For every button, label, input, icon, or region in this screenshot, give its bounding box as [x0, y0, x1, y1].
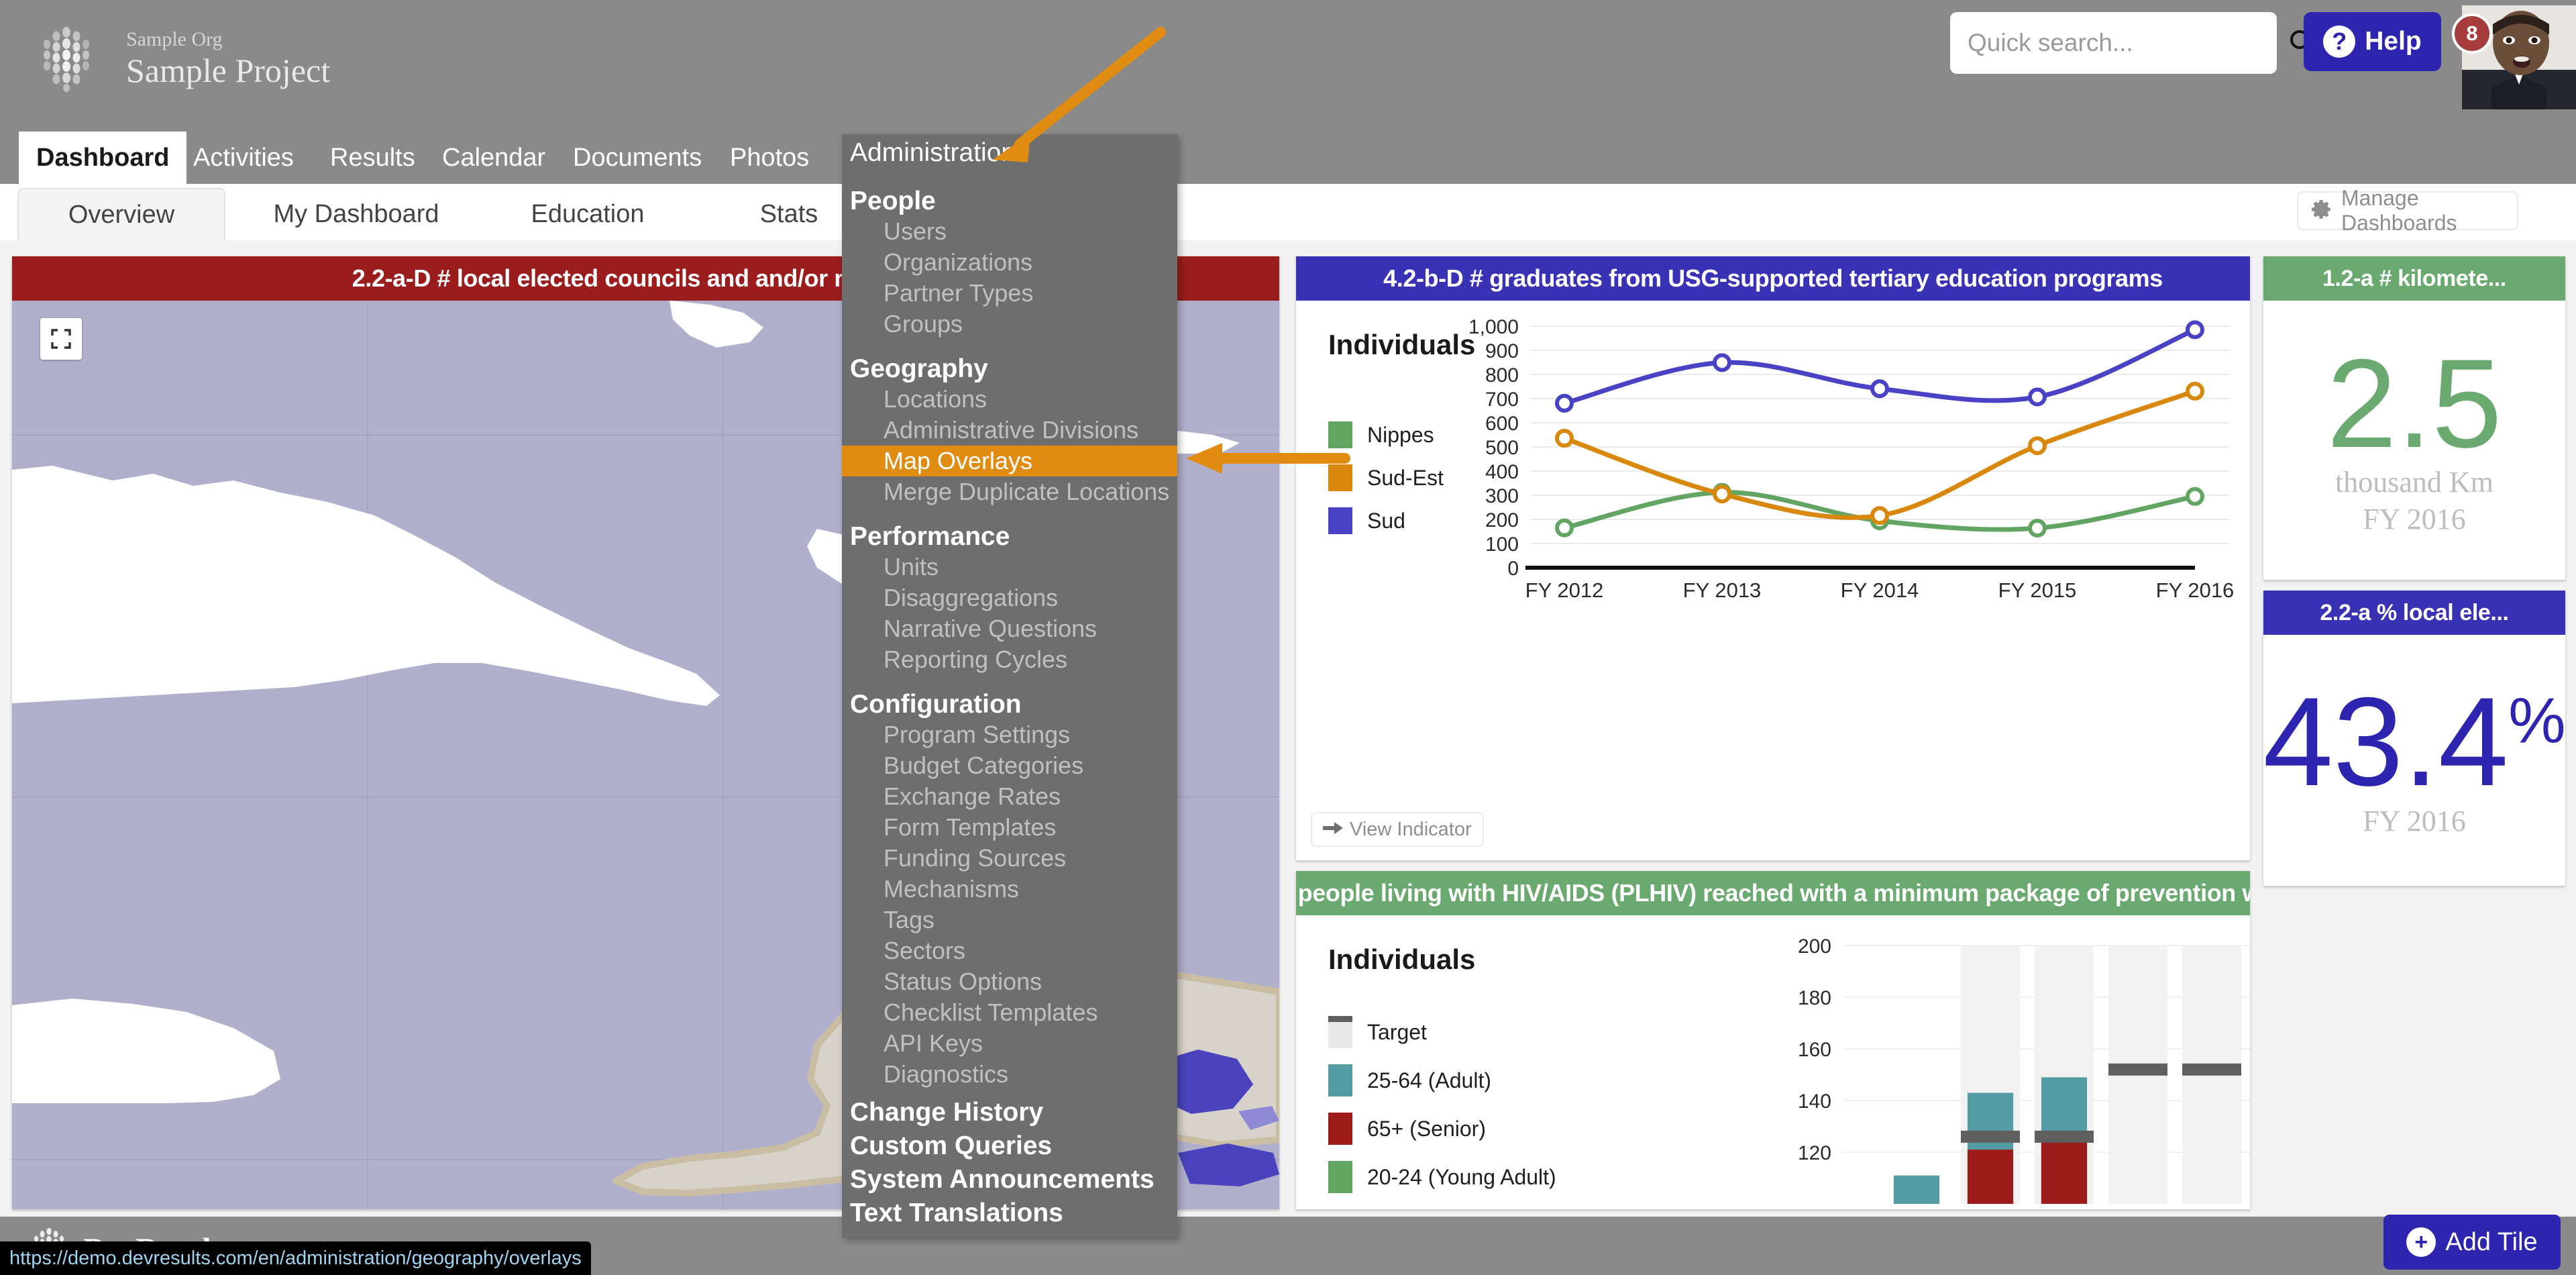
status-bar-url: https://demo.devresults.com/en/administr…	[0, 1241, 591, 1275]
dropdown-item-text-translations[interactable]: Text Translations	[842, 1190, 1177, 1224]
kpi-km-body: 2.5 thousand Km FY 2016	[2263, 301, 2565, 580]
dropdown-item-checklist-templates[interactable]: Checklist Templates	[842, 997, 1177, 1028]
dropdown-item-map-overlays[interactable]: Map Overlays	[842, 446, 1177, 476]
dropdown-item-locations[interactable]: Locations	[842, 384, 1177, 415]
dropdown-item-budget-categories[interactable]: Budget Categories	[842, 750, 1177, 781]
dropdown-item-organizations[interactable]: Organizations	[842, 247, 1177, 278]
project-name: Sample Project	[126, 52, 330, 91]
tile-kpi-kilometers[interactable]: 1.2-a # kilomete... 2.5 thousand Km FY 2…	[2263, 256, 2565, 580]
main-navigation: Dashboard Activities Results Calendar Do…	[0, 132, 2576, 184]
kpi-pct-period: FY 2016	[2363, 803, 2466, 839]
nav-tab-results[interactable]: Results	[313, 132, 433, 184]
dropdown-item-narrative-questions[interactable]: Narrative Questions	[842, 613, 1177, 644]
dropdown-group-heading: Configuration	[842, 675, 1177, 719]
svg-text:1,000: 1,000	[1468, 316, 1519, 338]
svg-text:160: 160	[1798, 1039, 1831, 1061]
kpi-pct-value: 43.4	[2263, 671, 2508, 812]
svg-text:400: 400	[1485, 461, 1519, 483]
subtab-overview[interactable]: Overview	[17, 188, 225, 240]
dropdown-item-units[interactable]: Units	[842, 552, 1177, 582]
nav-tab-photos[interactable]: Photos	[712, 132, 826, 184]
dropdown-item-groups[interactable]: Groups	[842, 309, 1177, 340]
dropdown-item-funding-sources[interactable]: Funding Sources	[842, 843, 1177, 874]
dashboard-subnav: Overview My Dashboard Education Stats	[0, 184, 2576, 240]
line-chart-plot: 01002003004005006007008009001,000FY 2012…	[1296, 301, 2250, 860]
svg-text:180: 180	[1798, 987, 1831, 1009]
manage-dashboards-label: Manage Dashboards	[2341, 186, 2517, 236]
kpi-pct-suffix: %	[2508, 685, 2565, 757]
kpi-km-title: 1.2-a # kilomete...	[2263, 256, 2565, 301]
nav-tab-activities[interactable]: Activities	[176, 132, 311, 184]
dropdown-item-tags[interactable]: Tags	[842, 905, 1177, 935]
dropdown-item-status-options[interactable]: Status Options	[842, 966, 1177, 997]
nav-tab-dashboard[interactable]: Dashboard	[19, 132, 186, 184]
svg-text:600: 600	[1485, 413, 1519, 435]
svg-text:200: 200	[1798, 935, 1831, 958]
notification-badge[interactable]: 8	[2452, 13, 2492, 54]
bar-tile-title: 3.1-a # people living with HIV/AIDS (PLH…	[1296, 871, 2250, 915]
kpi-km-value: 2.5	[2326, 343, 2502, 464]
view-indicator-button[interactable]: View Indicator	[1311, 812, 1484, 847]
dropdown-item-exchange-rates[interactable]: Exchange Rates	[842, 781, 1177, 812]
add-tile-button[interactable]: + Add Tile	[2383, 1215, 2561, 1270]
nav-tab-documents[interactable]: Documents	[555, 132, 719, 184]
dropdown-item-custom-queries[interactable]: Custom Queries	[842, 1123, 1177, 1157]
arrow-right-icon	[1323, 821, 1343, 839]
tile-kpi-local-elected[interactable]: 2.2-a % local ele... 43.4% FY 2016	[2263, 591, 2565, 886]
dropdown-item-system-announcements[interactable]: System Announcements	[842, 1157, 1177, 1190]
dropdown-title: Administration	[842, 134, 1177, 172]
kpi-km-period: FY 2016	[2363, 501, 2466, 538]
line-tile-title: 4.2-b-D # graduates from USG-supported t…	[1296, 256, 2250, 301]
add-tile-label: Add Tile	[2445, 1228, 2537, 1257]
gear-icon	[2310, 198, 2333, 224]
dropdown-item-change-history[interactable]: Change History	[842, 1090, 1177, 1123]
dropdown-item-form-templates[interactable]: Form Templates	[842, 812, 1177, 843]
svg-text:FY 2013: FY 2013	[1683, 578, 1762, 602]
svg-text:200: 200	[1485, 509, 1519, 531]
svg-text:0: 0	[1507, 558, 1519, 580]
status-bar-url-text: https://demo.devresults.com/en/administr…	[9, 1247, 582, 1270]
tile-bar-chart-plhiv[interactable]: 3.1-a # people living with HIV/AIDS (PLH…	[1296, 871, 2250, 1209]
dropdown-item-sectors[interactable]: Sectors	[842, 935, 1177, 966]
quick-search-box[interactable]	[1950, 12, 2277, 74]
dropdown-item-administrative-divisions[interactable]: Administrative Divisions	[842, 415, 1177, 446]
top-header-bar: Sample Org Sample Project ? Help 8	[0, 0, 2576, 132]
dropdown-item-api-keys[interactable]: API Keys	[842, 1028, 1177, 1059]
fullscreen-icon[interactable]	[40, 318, 82, 360]
kpi-pct-title: 2.2-a % local ele...	[2263, 591, 2565, 635]
subtab-stats[interactable]: Stats	[715, 188, 863, 240]
subtab-education[interactable]: Education	[487, 188, 688, 240]
manage-dashboards-button[interactable]: Manage Dashboards	[2297, 191, 2518, 230]
svg-text:500: 500	[1485, 437, 1519, 459]
svg-text:120: 120	[1798, 1142, 1831, 1164]
dropdown-item-reporting-cycles[interactable]: Reporting Cycles	[842, 644, 1177, 675]
kpi-km-unit: thousand Km	[2335, 464, 2493, 501]
svg-text:FY 2012: FY 2012	[1525, 578, 1604, 602]
dropdown-item-users[interactable]: Users	[842, 216, 1177, 247]
dropdown-group-heading: Geography	[842, 340, 1177, 384]
svg-text:700: 700	[1485, 389, 1519, 411]
dashboard-canvas: 2.2-a-D # local elected councils and and…	[0, 240, 2576, 1217]
dropdown-item-diagnostics[interactable]: Diagnostics	[842, 1059, 1177, 1090]
dropdown-group-heading: People	[842, 172, 1177, 216]
globe-icon	[27, 19, 106, 98]
nav-tab-calendar[interactable]: Calendar	[425, 132, 563, 184]
svg-text:FY 2016: FY 2016	[2156, 578, 2235, 602]
administration-dropdown-menu[interactable]: Administration PeopleUsersOrganizationsP…	[842, 134, 1177, 1238]
dropdown-item-mechanisms[interactable]: Mechanisms	[842, 874, 1177, 905]
svg-text:300: 300	[1485, 485, 1519, 507]
help-button-label: Help	[2365, 27, 2422, 56]
svg-text:900: 900	[1485, 340, 1519, 362]
view-indicator-label: View Indicator	[1350, 819, 1472, 841]
plus-circle-icon: +	[2406, 1227, 2436, 1257]
dropdown-group-heading: Performance	[842, 507, 1177, 552]
search-input[interactable]	[1968, 29, 2287, 57]
line-chart-body: Individuals Nippes Sud-Est Sud 010020030…	[1296, 301, 2250, 860]
org-name: Sample Org	[126, 27, 330, 52]
dropdown-item-program-settings[interactable]: Program Settings	[842, 719, 1177, 750]
bar-chart-body: Individuals Target 25-64 (Adult) 65+ (Se…	[1296, 915, 2250, 1209]
tile-line-chart-graduates[interactable]: 4.2-b-D # graduates from USG-supported t…	[1296, 256, 2250, 860]
help-button[interactable]: ? Help	[2304, 12, 2441, 71]
svg-text:FY 2014: FY 2014	[1841, 578, 1919, 602]
svg-text:100: 100	[1485, 533, 1519, 556]
brand-block[interactable]: Sample Org Sample Project	[27, 19, 330, 98]
svg-text:FY 2015: FY 2015	[1998, 578, 2077, 602]
bar-chart-plot: 120140160180200	[1296, 915, 2250, 1209]
svg-text:800: 800	[1485, 364, 1519, 387]
dropdown-item-merge-duplicate-locations[interactable]: Merge Duplicate Locations	[842, 476, 1177, 507]
dropdown-item-partner-types[interactable]: Partner Types	[842, 278, 1177, 309]
kpi-pct-body: 43.4% FY 2016	[2263, 635, 2565, 886]
svg-text:140: 140	[1798, 1090, 1831, 1113]
dropdown-item-disaggregations[interactable]: Disaggregations	[842, 582, 1177, 613]
subtab-my-dashboard[interactable]: My Dashboard	[246, 188, 467, 240]
question-circle-icon: ?	[2323, 25, 2355, 58]
